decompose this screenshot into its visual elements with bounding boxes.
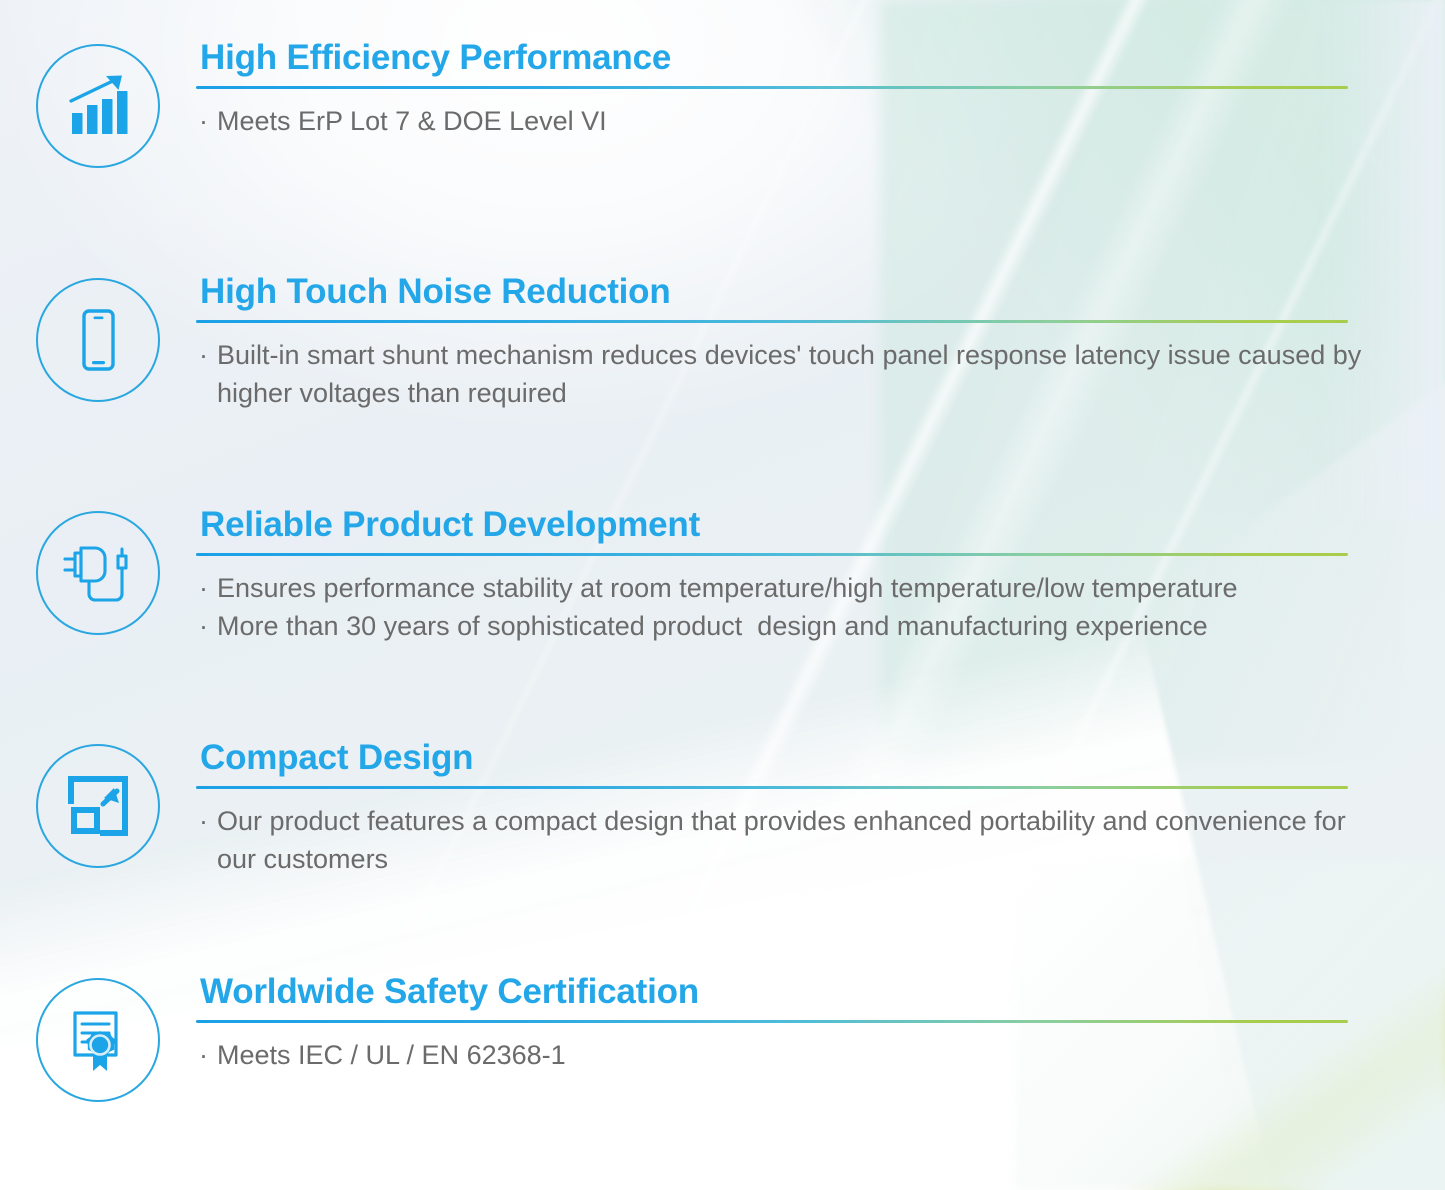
feature-bullet-list: · Built-in smart shunt mechanism reduces… [196,336,1365,413]
feature-icon-wrap [0,274,196,402]
bullet-text: Built-in smart shunt mechanism reduces d… [217,336,1365,413]
feature-item-compact-design: Compact Design · Our product features a … [0,740,1445,878]
certificate-award-icon [36,978,160,1102]
page-title: High Touch Noise Reduction [196,274,1365,320]
feature-highlights-page: High Efficiency Performance · Meets ErP … [0,0,1445,1190]
feature-item-worldwide-safety-certification: Worldwide Safety Certification · Meets I… [0,974,1445,1102]
page-title: Reliable Product Development [196,507,1365,553]
page-title: High Efficiency Performance [196,40,1365,86]
page-title: Compact Design [196,740,1365,786]
bullet-marker: · [196,569,217,607]
feature-item-reliable-product-development: Reliable Product Development · Ensures p… [0,507,1445,645]
title-divider [196,786,1348,789]
feature-item-high-efficiency-performance: High Efficiency Performance · Meets ErP … [0,40,1445,168]
list-item: · Meets ErP Lot 7 & DOE Level VI [196,102,1365,140]
feature-icon-wrap [0,974,196,1102]
feature-bullet-list: · Meets ErP Lot 7 & DOE Level VI [196,102,1365,140]
smartphone-icon [36,278,160,402]
feature-icon-wrap [0,40,196,168]
title-divider [196,1020,1348,1023]
feature-bullet-list: · Meets IEC / UL / EN 62368-1 [196,1036,1365,1074]
bullet-text: Meets ErP Lot 7 & DOE Level VI [217,102,1365,140]
bullet-marker: · [196,1036,217,1074]
bullet-marker: · [196,336,217,374]
bullet-marker: · [196,607,217,645]
feature-body: High Efficiency Performance · Meets ErP … [196,40,1445,140]
feature-body: Worldwide Safety Certification · Meets I… [196,974,1445,1074]
title-divider [196,320,1348,323]
feature-bullet-list: · Ensures performance stability at room … [196,569,1365,646]
feature-icon-wrap [0,740,196,868]
list-item: · Our product features a compact design … [196,802,1365,879]
list-item: · Ensures performance stability at room … [196,569,1365,607]
feature-icon-wrap [0,507,196,635]
bar-chart-growth-icon [36,44,160,168]
bullet-text: More than 30 years of sophisticated prod… [217,607,1365,645]
list-item: · Built-in smart shunt mechanism reduces… [196,336,1365,413]
page-title: Worldwide Safety Certification [196,974,1365,1020]
title-divider [196,553,1348,556]
bullet-text: Meets IEC / UL / EN 62368-1 [217,1036,1365,1074]
feature-body: High Touch Noise Reduction · Built-in sm… [196,274,1445,412]
power-adapter-icon [36,511,160,635]
feature-body: Reliable Product Development · Ensures p… [196,507,1445,645]
bullet-text: Our product features a compact design th… [217,802,1365,879]
compact-resize-icon [36,744,160,868]
list-item: · More than 30 years of sophisticated pr… [196,607,1365,645]
bullet-marker: · [196,102,217,140]
feature-list: High Efficiency Performance · Meets ErP … [0,0,1445,1190]
bullet-text: Ensures performance stability at room te… [217,569,1365,607]
feature-item-high-touch-noise-reduction: High Touch Noise Reduction · Built-in sm… [0,274,1445,412]
title-divider [196,86,1348,89]
bullet-marker: · [196,802,217,840]
feature-body: Compact Design · Our product features a … [196,740,1445,878]
list-item: · Meets IEC / UL / EN 62368-1 [196,1036,1365,1074]
feature-bullet-list: · Our product features a compact design … [196,802,1365,879]
